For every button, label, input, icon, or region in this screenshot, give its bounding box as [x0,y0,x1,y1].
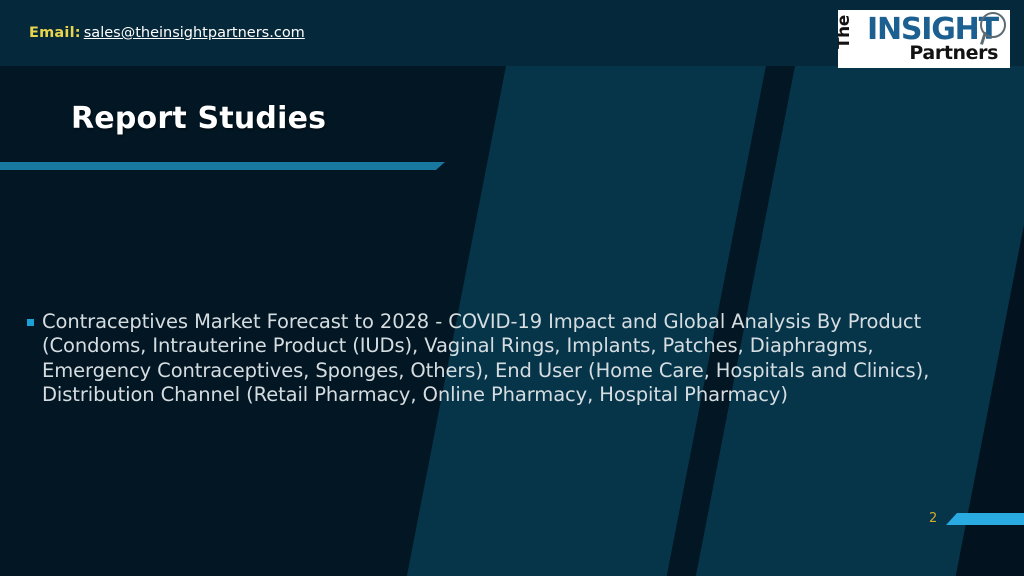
footer-accent-bar [946,513,1024,525]
title-underline-rule [0,162,445,170]
email-label: Email: [29,25,81,41]
page-title: Report Studies [71,101,326,136]
email-link[interactable]: sales@theinsightpartners.com [84,25,305,41]
contact-email-line: Email:sales@theinsightpartners.com [29,25,305,41]
logo-partners-text: Partners [909,43,998,63]
list-item-label: Contraceptives Market Forecast to 2028 -… [42,310,952,407]
company-logo[interactable]: The INSIGHT Partners [838,10,1010,68]
slide-canvas: Email:sales@theinsightpartners.com The I… [0,0,1024,576]
square-bullet-icon [27,319,34,326]
list-item: Contraceptives Market Forecast to 2028 -… [27,310,952,407]
background-decoration [0,0,1024,576]
page-number: 2 [929,511,937,526]
